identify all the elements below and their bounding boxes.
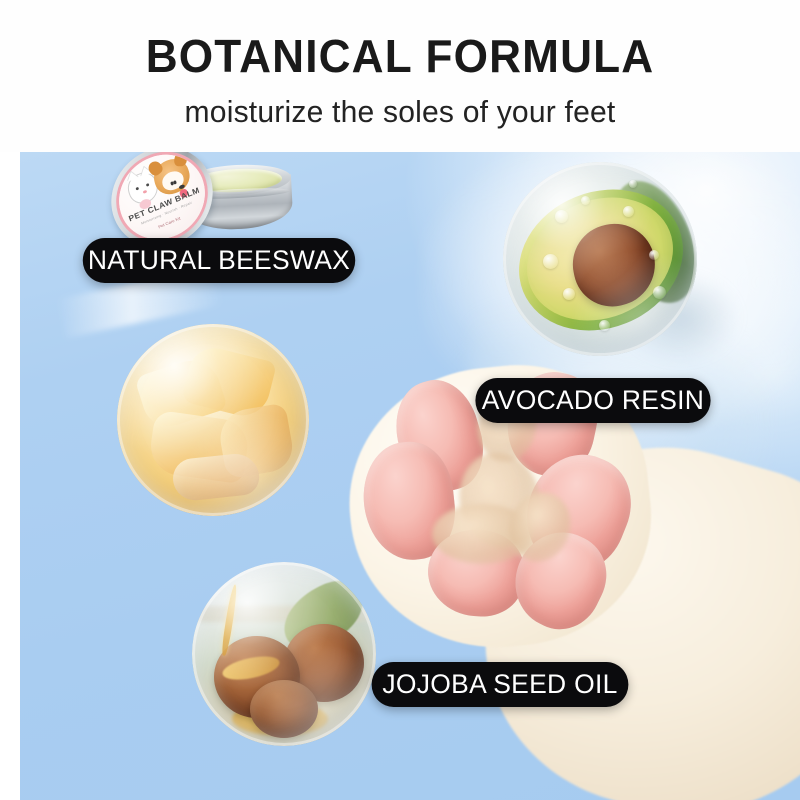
dog-eye bbox=[173, 180, 177, 185]
water-droplet bbox=[555, 210, 568, 223]
water-droplet bbox=[649, 250, 659, 260]
water-droplet bbox=[581, 196, 590, 205]
dog-ear bbox=[174, 152, 188, 167]
dog-face bbox=[160, 168, 186, 193]
jojoba-nut bbox=[250, 680, 318, 738]
water-droplet bbox=[623, 206, 634, 217]
header-banner: BOTANICAL FORMULA moisturize the soles o… bbox=[0, 0, 800, 152]
cat-eye bbox=[146, 183, 150, 187]
cat-nose bbox=[143, 190, 148, 194]
badge-jojoba-seed-oil: JOJOBA SEED OIL bbox=[372, 662, 629, 707]
water-droplet bbox=[629, 180, 637, 188]
jojoba-ingredient-sphere bbox=[192, 562, 376, 746]
water-droplet bbox=[563, 288, 575, 300]
water-droplet bbox=[599, 320, 610, 331]
avocado-ingredient-sphere bbox=[503, 162, 697, 356]
page-subtitle: moisturize the soles of your feet bbox=[12, 79, 788, 127]
water-droplet bbox=[653, 286, 666, 299]
cat-eye bbox=[136, 187, 140, 191]
badge-natural-beeswax: NATURAL BEESWAX bbox=[83, 238, 355, 283]
badge-avocado-resin: AVOCADO RESIN bbox=[475, 378, 710, 423]
water-droplet bbox=[543, 254, 558, 269]
page-title: BOTANICAL FORMULA bbox=[16, 0, 784, 79]
beeswax-ingredient-sphere bbox=[117, 324, 309, 516]
